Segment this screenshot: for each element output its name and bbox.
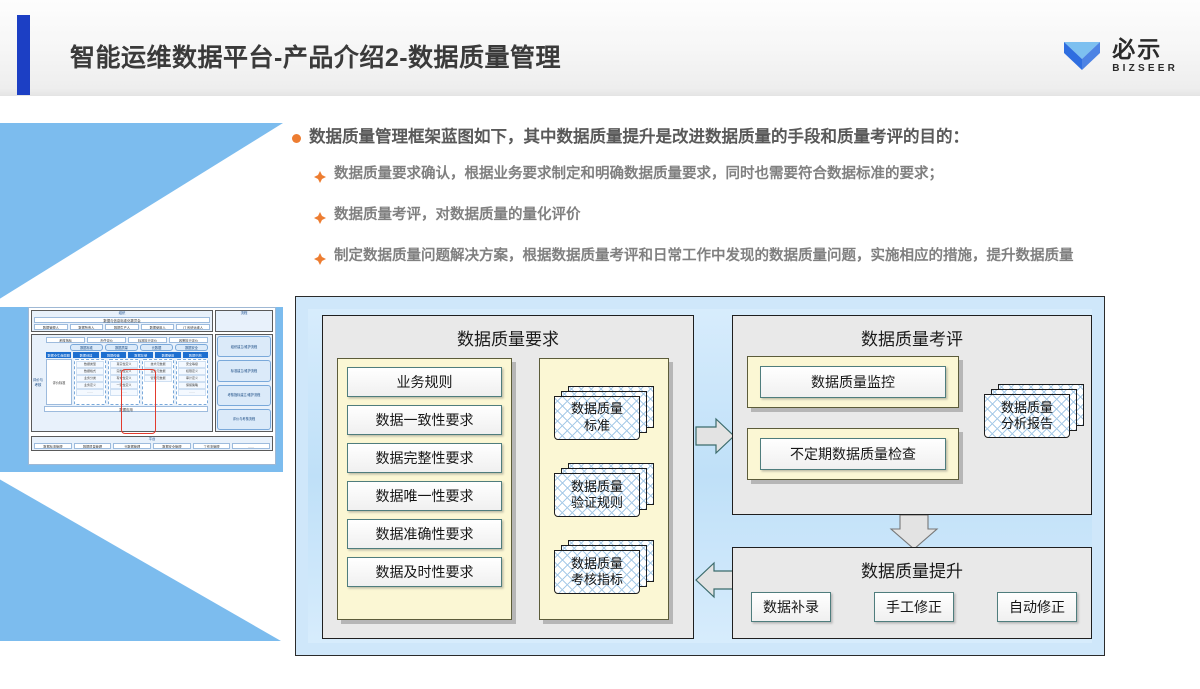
document-stack[interactable]: 数据质量 验证规则 — [554, 463, 654, 515]
thumb-mini: 业务元数据 — [144, 368, 172, 375]
thumb-eval-header: 考核指标 责任评价 标准执行评价 政策执行评价 — [46, 337, 208, 343]
thumb-mini: 技术元数据 — [144, 361, 172, 368]
diamond-bullet-icon — [314, 170, 326, 188]
diamond-bullet-icon — [314, 211, 326, 229]
doc-label: 数据质量 考核指标 — [554, 550, 640, 594]
doc-label-line1: 数据质量 — [571, 556, 623, 572]
triangle-check-logo-icon — [1061, 39, 1103, 73]
diamond-bullet-icon — [314, 252, 326, 270]
thumb-eval-head: 标准执行评价 — [128, 337, 167, 343]
brand-logo: 必示 BIZSEER — [1061, 38, 1178, 74]
data-quality-framework-diagram: 数据质量要求 业务规则 数据一致性要求 数据完整性要求 数据唯一性要求 数据准确… — [295, 296, 1105, 656]
bullet-dot-icon — [292, 134, 301, 143]
thumb-mini: 数据类型 — [76, 361, 104, 368]
bullet-main-text: 数据质量管理框架蓝图如下，其中数据质量提升是改进数据质量的手段和质量考评的目的： — [309, 126, 969, 148]
doc-label-line2: 分析报告 — [1001, 416, 1053, 432]
bullet-sub-text: 制定数据质量问题解决方案，根据数据质量考评和日常工作中发现的数据质量问题，实施相… — [334, 246, 1074, 267]
panel-evaluation: 数据质量考评 数据质量监控 不定期数据质量检查 数据质量 分析报告 — [732, 315, 1092, 515]
thumb-mini: …… — [178, 389, 206, 396]
req-to-eval-arrow — [696, 419, 734, 453]
thumb-detail-col: 技术元数据 业务元数据 管理元数据 — [142, 359, 174, 405]
improvement-list: 数据补录 手工修正 自动修正 — [751, 592, 1077, 622]
thumb-mini: 业务分类 — [76, 375, 104, 382]
thumb-lifecycle: 数据传输 — [101, 352, 126, 358]
page-title: 智能运维数据平台-产品介绍2-数据质量管理 — [70, 38, 561, 74]
thumb-platform-title: 平台 — [32, 437, 272, 442]
thumb-eval-head: 考核指标 — [46, 337, 85, 343]
thumb-lifecycle: 数据归档 — [183, 352, 208, 358]
page-header: 智能运维数据平台-产品介绍2-数据质量管理 必示 BIZSEER — [0, 0, 1200, 96]
header-accent-bar — [17, 15, 30, 95]
thumb-detail-columns: 评价标准 数据类型 数据格式 业务分类 业务定义 …… 真实性定义 完整性定义 … — [46, 359, 208, 405]
thumb-lifecycle: 数据创建 — [73, 352, 98, 358]
thumb-role: 数据使用人 — [141, 324, 175, 330]
thumb-mini: 真实性定义 — [110, 361, 138, 368]
thumb-org-bar: 数据与信息标准化委员会 — [34, 317, 210, 323]
thumb-eval-head: 政策执行评价 — [169, 337, 208, 343]
thumb-mini: …… — [110, 389, 138, 396]
thumb-mini: 业务定义 — [76, 382, 104, 389]
thumb-flow-item: 考核指标建立/维护流程 — [217, 385, 271, 406]
thumb-mini: 管理元数据 — [144, 375, 172, 382]
thumb-mini: 有效性定义 — [110, 375, 138, 382]
thumb-mini: 完整性定义 — [110, 368, 138, 375]
bullet-sub-text: 数据质量考评，对数据质量的量化评价 — [334, 205, 581, 226]
requirement-item[interactable]: 数据完整性要求 — [347, 443, 502, 473]
panel-evaluation-title: 数据质量考评 — [733, 316, 1091, 350]
requirement-item[interactable]: 业务规则 — [347, 367, 502, 397]
logo-text-en: BIZSEER — [1112, 64, 1178, 74]
thumb-flow-title: 流程 — [216, 311, 272, 316]
report-document-stack[interactable]: 数据质量 分析报告 — [984, 384, 1084, 444]
thumb-mini: 安全等级 — [178, 361, 206, 368]
thumb-mini: 数据格式 — [76, 368, 104, 375]
evaluation-item[interactable]: 不定期数据质量检查 — [760, 438, 946, 470]
thumb-lifecycle-row: 数据全生命周期 数据创建 数据传输 数据存储 数据使用 数据归档 — [46, 352, 208, 358]
panel-requirements: 数据质量要求 业务规则 数据一致性要求 数据完整性要求 数据唯一性要求 数据准确… — [322, 315, 694, 639]
bullet-sub-text: 数据质量要求确认，根据业务要求制定和明确数据质量要求，同时也需要符合数据标准的要… — [334, 164, 943, 185]
doc-label-line2: 标准 — [584, 418, 610, 434]
evaluation-item[interactable]: 数据质量监控 — [760, 366, 946, 398]
requirements-documents: 数据质量 标准 数据质量 验证规则 — [539, 358, 669, 620]
bullet-list: 数据质量管理框架蓝图如下，其中数据质量提升是改进数据质量的手段和质量考评的目的：… — [292, 126, 1122, 287]
doc-label-line1: 数据质量 — [571, 479, 623, 495]
thumb-lifecycle: 数据全生命周期 — [46, 352, 71, 358]
thumb-eval-head: 责任评价 — [87, 337, 126, 343]
bullet-sub: 制定数据质量问题解决方案，根据数据质量考评和日常工作中发现的数据质量问题，实施相… — [314, 246, 1122, 270]
doc-label-line1: 数据质量 — [1001, 400, 1053, 416]
thumb-pill-row: 数据标准 数据质量 元数据 数据安全 — [70, 344, 208, 351]
thumb-mini: 权限定义 — [178, 368, 206, 375]
thumb-mini: 审计定义 — [178, 375, 206, 382]
thumb-eval-side-label: 评价与考核 — [32, 335, 44, 431]
thumb-flow-item: 组织建立/维护流程 — [217, 336, 271, 357]
thumb-pill: 元数据 — [140, 344, 173, 351]
panel-improvement-title: 数据质量提升 — [733, 548, 1091, 582]
thumb-detail-col: 数据类型 数据格式 业务分类 业务定义 …… — [74, 359, 106, 405]
doc-label-line2: 验证规则 — [571, 495, 623, 511]
evaluation-item-wrap: 不定期数据质量检查 — [747, 428, 959, 480]
thumb-pill: 数据质量 — [105, 344, 138, 351]
thumb-platform-item: 数据标准管理 — [34, 443, 72, 449]
thumb-mini: …… — [76, 389, 104, 396]
thumb-mini: 一致性定义 — [110, 382, 138, 389]
thumb-platform-row: 数据标准管理 数据质量管理 元数据管理 数据安全管理 工作流管理 …… — [34, 443, 270, 449]
thumb-lifecycle: 数据使用 — [155, 352, 180, 358]
improvement-item[interactable]: 手工修正 — [874, 592, 954, 622]
thumb-role: 数据管理人 — [34, 324, 68, 330]
evaluation-item-wrap: 数据质量监控 — [747, 356, 959, 408]
bullet-sub: 数据质量考评，对数据质量的量化评价 — [314, 205, 1122, 229]
eval-to-imp-arrow — [891, 515, 937, 549]
improvement-item[interactable]: 数据补录 — [751, 592, 831, 622]
thumb-platform-item: …… — [232, 443, 270, 449]
doc-label-line1: 数据质量 — [571, 401, 623, 417]
panel-improvement: 数据质量提升 数据补录 手工修正 自动修正 — [732, 547, 1092, 639]
doc-label: 数据质量 标准 — [554, 396, 640, 440]
requirements-list: 业务规则 数据一致性要求 数据完整性要求 数据唯一性要求 数据准确性要求 数据及… — [337, 358, 512, 620]
imp-to-req-arrow — [696, 563, 734, 597]
bullet-sub: 数据质量要求确认，根据业务要求制定和明确数据质量要求，同时也需要符合数据标准的要… — [314, 164, 1122, 188]
thumb-org-roles: 数据管理人 数据所有人 数据生产人 数据使用人 IT 系统运维人 — [34, 324, 210, 330]
bullet-main: 数据质量管理框架蓝图如下，其中数据质量提升是改进数据质量的手段和质量考评的目的： — [292, 126, 1122, 148]
thumb-platform-item: 工作流管理 — [193, 443, 231, 449]
thumb-role: 数据生产人 — [105, 324, 139, 330]
thumb-col-left-label: 评价标准 — [46, 359, 72, 405]
thumb-detail-col: 安全等级 权限定义 审计定义 保留策略 …… — [176, 359, 208, 405]
document-stack[interactable]: 数据质量 考核指标 — [554, 540, 654, 592]
doc-label: 数据质量 分析报告 — [984, 394, 1070, 438]
requirement-item[interactable]: 数据一致性要求 — [347, 405, 502, 435]
thumb-app-bar: 数据应用 — [44, 406, 208, 412]
thumb-platform-item: 数据质量管理 — [74, 443, 112, 449]
thumb-role: IT 系统运维人 — [176, 324, 210, 330]
requirement-item[interactable]: 数据唯一性要求 — [347, 481, 502, 511]
improvement-item[interactable]: 自动修正 — [997, 592, 1077, 622]
thumb-mini: 保留策略 — [178, 382, 206, 389]
document-stack[interactable]: 数据质量 标准 — [554, 386, 654, 438]
thumb-org-title: 组织 — [32, 311, 212, 316]
doc-label: 数据质量 验证规则 — [554, 473, 640, 517]
thumb-detail-col: 真实性定义 完整性定义 有效性定义 一致性定义 …… — [108, 359, 140, 405]
framework-blueprint-thumbnail[interactable]: 组织 数据与信息标准化委员会 数据管理人 数据所有人 数据生产人 数据使用人 I… — [28, 307, 276, 465]
thumb-flow-item: 标准建立/维护流程 — [217, 360, 271, 381]
panel-requirements-title: 数据质量要求 — [323, 316, 693, 350]
logo-text-cn: 必示 — [1112, 38, 1178, 61]
doc-label-line2: 考核指标 — [571, 572, 623, 588]
thumb-platform-item: 元数据管理 — [113, 443, 151, 449]
requirement-item[interactable]: 数据准确性要求 — [347, 519, 502, 549]
thumb-platform-item: 数据安全管理 — [153, 443, 191, 449]
thumb-flow-item: 评价与考核流程 — [217, 409, 271, 430]
thumb-pill: 数据标准 — [70, 344, 103, 351]
thumb-pill: 数据安全 — [175, 344, 208, 351]
thumb-lifecycle: 数据存储 — [128, 352, 153, 358]
thumb-role: 数据所有人 — [70, 324, 104, 330]
requirement-item[interactable]: 数据及时性要求 — [347, 557, 502, 587]
